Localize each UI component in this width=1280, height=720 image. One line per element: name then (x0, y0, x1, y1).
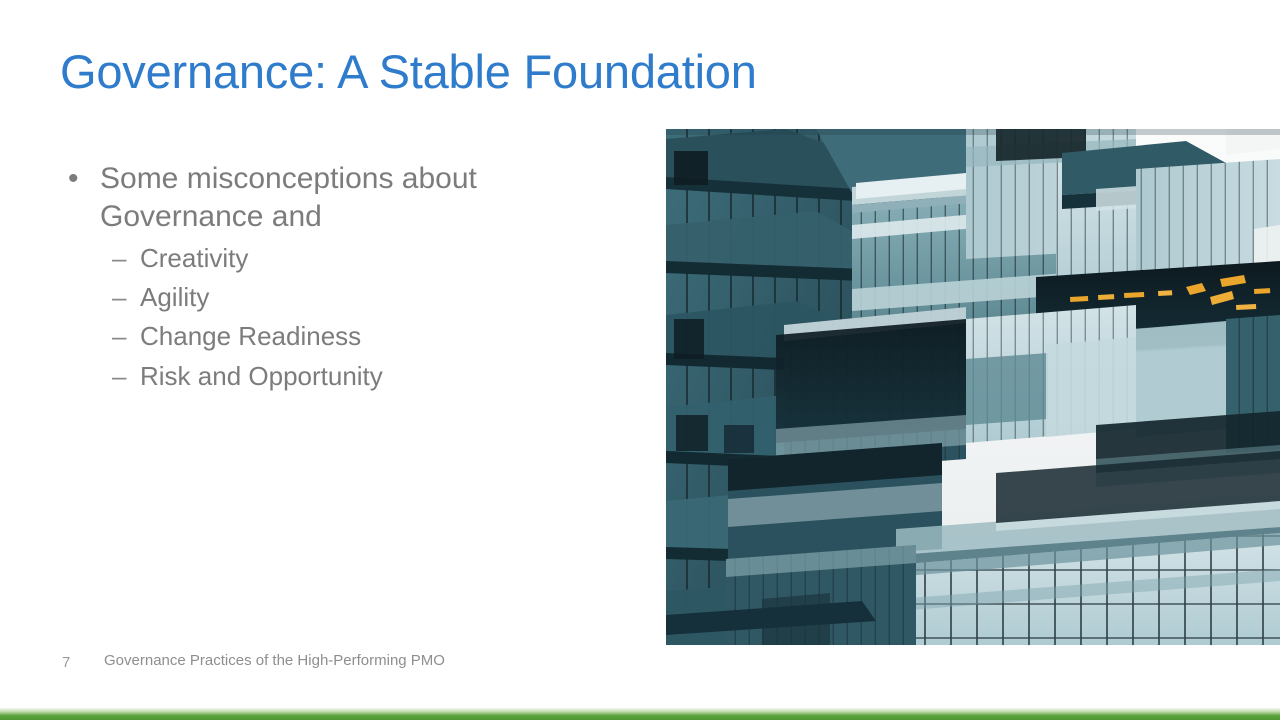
list-item-label: Change Readiness (140, 321, 361, 351)
list-item: – Agility (60, 280, 640, 314)
list-item: – Risk and Opportunity (60, 359, 640, 393)
dash-marker-icon: – (112, 319, 126, 353)
body-content: • Some misconceptions about Governance a… (60, 160, 640, 398)
list-item-label: Some misconceptions about Governance and (100, 162, 477, 233)
dash-marker-icon: – (112, 359, 126, 393)
sub-list: – Creativity – Agility – Change Readines… (60, 241, 640, 393)
dash-marker-icon: – (112, 280, 126, 314)
page-title: Governance: A Stable Foundation (60, 45, 1060, 99)
page-number: 7 (62, 654, 70, 671)
building-photo (666, 129, 1280, 645)
list-item: – Change Readiness (60, 319, 640, 353)
list-item-label: Agility (140, 282, 209, 312)
building-photo-graphic (666, 129, 1280, 645)
list-item-label: Risk and Opportunity (140, 361, 383, 391)
footer-text: Governance Practices of the High-Perform… (104, 652, 445, 669)
dash-marker-icon: – (112, 241, 126, 275)
slide: Governance: A Stable Foundation • Some m… (0, 0, 1280, 720)
list-item: • Some misconceptions about Governance a… (60, 160, 640, 237)
list-item-label: Creativity (140, 243, 248, 273)
list-item: – Creativity (60, 241, 640, 275)
accent-bar (0, 698, 1280, 720)
bullet-marker-icon: • (68, 160, 79, 198)
